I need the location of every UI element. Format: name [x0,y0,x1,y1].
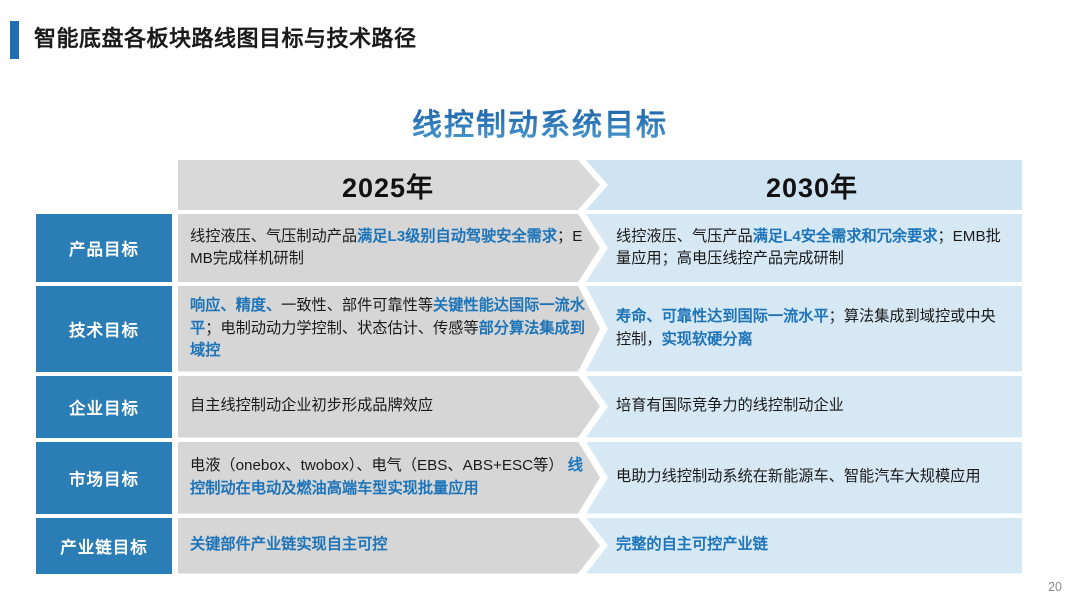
cell-text: 完整的自主可控产业链 [616,534,768,557]
cell-2030-technology-goal: 寿命、可靠性达到国际一流水平；算法集成到域控或中央控制，实现软硬分离 [586,286,1022,372]
text-run: 自主线控制动企业初步形成品牌效应 [190,397,433,414]
table-row: 技术目标 响应、精度、一致性、部件可靠性等关键性能达国际一流水平；电制动动力学控… [36,286,1036,372]
highlighted-text-run: 满足L3级别自动驾驶安全需求 [357,228,557,245]
text-run: 电液（onebox、twobox）、电气（EBS、ABS+ESC等） [190,457,563,474]
table-row: 产业链目标 关键部件产业链实现自主可控 完整的自主可控产业链 [36,518,1036,574]
cell-2030-industry-chain-goal: 完整的自主可控产业链 [586,518,1022,574]
highlighted-text-run: 完整的自主可控产业链 [616,536,768,553]
cell-text: 电助力线控制动系统在新能源车、智能汽车大规模应用 [616,466,981,489]
highlighted-text-run: 满足L4安全需求和冗余要求 [753,228,938,245]
goals-table: 2025年 2030年 产品目标 线控液压、气压制动产品满足L3级别自动驾驶安全… [36,160,1036,578]
table-header-row: 2025年 2030年 [36,160,1036,210]
column-header-2025-label: 2025年 [342,166,434,205]
text-run: 电助力线控制动系统在新能源车、智能汽车大规模应用 [616,468,981,485]
column-header-2025: 2025年 [178,160,600,210]
highlighted-text-run: 实现软硬分离 [662,331,753,348]
slide: 智能底盘各板块路线图目标与技术路径 线控制动系统目标 2025年 2030年 产… [0,0,1080,608]
cell-text: 响应、精度、一致性、部件可靠性等关键性能达国际一流水平；电制动动力学控制、状态估… [190,295,586,363]
text-run: 培育有国际竞争力的线控制动企业 [616,397,844,414]
cell-text: 线控液压、气压产品满足L4安全需求和冗余要求；EMB批量应用；高电压线控产品完成… [616,226,1008,271]
column-header-2030-label: 2030年 [766,166,858,205]
slide-header: 智能底盘各板块路线图目标与技术路径 [0,18,1080,60]
cell-text: 关键部件产业链实现自主可控 [190,534,387,557]
subtitle-text: 线控制动系统目标 [412,100,668,144]
cell-2025-enterprise-goal: 自主线控制动企业初步形成品牌效应 [178,376,600,438]
cell-2025-market-goal: 电液（onebox、twobox）、电气（EBS、ABS+ESC等） 线控制动在… [178,442,600,514]
cell-2025-technology-goal: 响应、精度、一致性、部件可靠性等关键性能达国际一流水平；电制动动力学控制、状态估… [178,286,600,372]
page-title: 智能底盘各板块路线图目标与技术路径 [34,18,417,60]
row-label-technology-goal: 技术目标 [36,286,172,372]
text-run: 线控液压、气压制动产品 [190,228,357,245]
row-label-enterprise-goal: 企业目标 [36,376,172,438]
subtitle: 线控制动系统目标 [0,100,1080,144]
cell-text: 培育有国际竞争力的线控制动企业 [616,395,844,418]
row-label-market-goal: 市场目标 [36,442,172,514]
table-row: 产品目标 线控液压、气压制动产品满足L3级别自动驾驶安全需求；EMB完成样机研制… [36,214,1036,282]
cell-2030-product-goal: 线控液压、气压产品满足L4安全需求和冗余要求；EMB批量应用；高电压线控产品完成… [586,214,1022,282]
highlighted-text-run: 响应、精度、 [190,297,281,314]
cell-2030-enterprise-goal: 培育有国际竞争力的线控制动企业 [586,376,1022,438]
highlighted-text-run: 关键部件产业链实现自主可控 [190,536,387,553]
page-number: 20 [1048,580,1062,594]
cell-2025-industry-chain-goal: 关键部件产业链实现自主可控 [178,518,600,574]
cell-2025-product-goal: 线控液压、气压制动产品满足L3级别自动驾驶安全需求；EMB完成样机研制 [178,214,600,282]
highlighted-text-run: 寿命、可靠性达到国际一流水平 [616,308,829,325]
column-header-2030: 2030年 [586,160,1022,210]
text-run: ；电制动动力学控制、状态估计、传感等 [205,320,478,337]
cell-text: 寿命、可靠性达到国际一流水平；算法集成到域控或中央控制，实现软硬分离 [616,306,1008,351]
table-corner-cell [36,160,172,210]
header-accent-bar [10,21,19,59]
cell-text: 自主线控制动企业初步形成品牌效应 [190,395,433,418]
text-run: 一致性、部件可靠性等 [281,297,433,314]
row-label-industry-chain-goal: 产业链目标 [36,518,172,574]
cell-text: 电液（onebox、twobox）、电气（EBS、ABS+ESC等） 线控制动在… [190,455,586,500]
table-row: 市场目标 电液（onebox、twobox）、电气（EBS、ABS+ESC等） … [36,442,1036,514]
row-label-product-goal: 产品目标 [36,214,172,282]
cell-2030-market-goal: 电助力线控制动系统在新能源车、智能汽车大规模应用 [586,442,1022,514]
table-row: 企业目标 自主线控制动企业初步形成品牌效应 培育有国际竞争力的线控制动企业 [36,376,1036,438]
text-run: 线控液压、气压产品 [616,228,753,245]
cell-text: 线控液压、气压制动产品满足L3级别自动驾驶安全需求；EMB完成样机研制 [190,226,586,271]
